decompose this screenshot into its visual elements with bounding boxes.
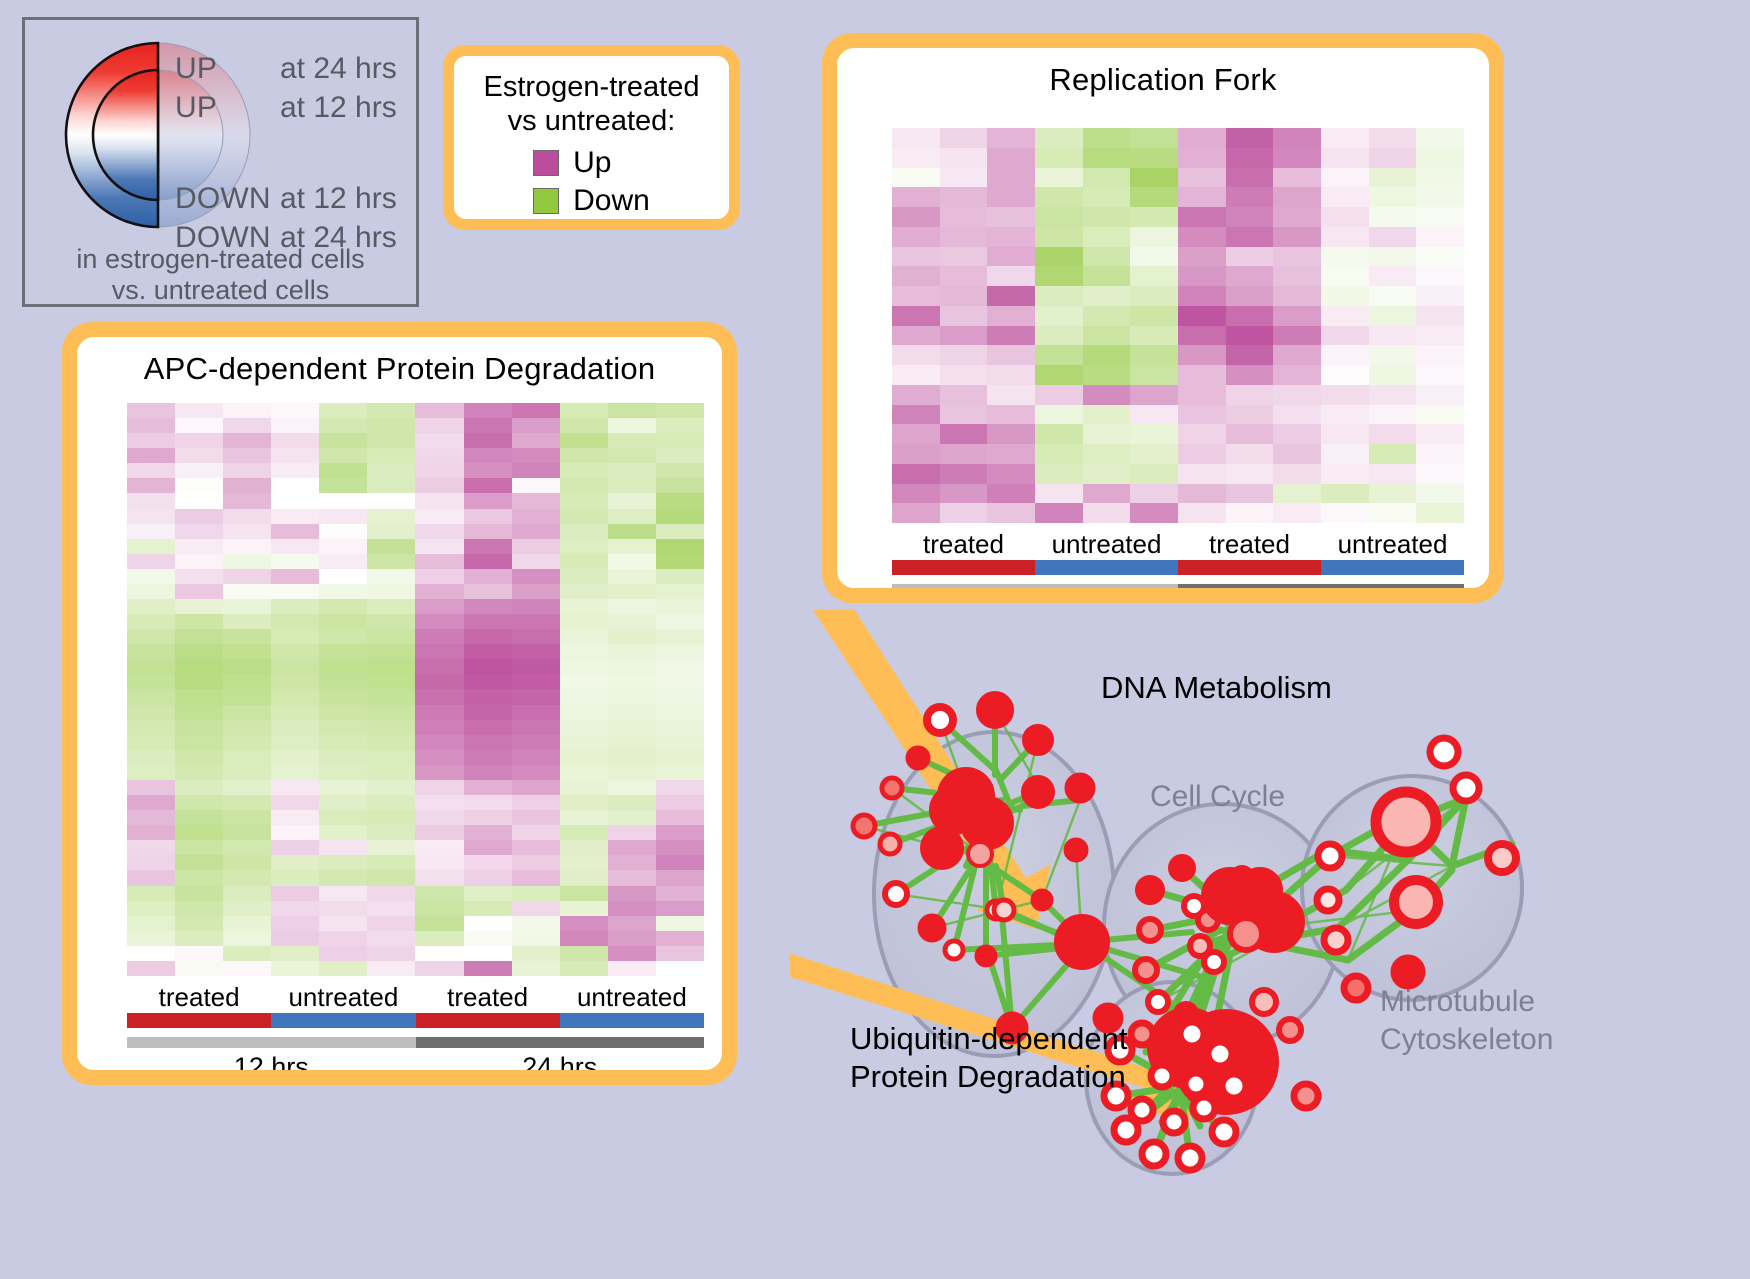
node — [880, 834, 900, 854]
node — [885, 883, 907, 905]
heatmap-cell — [608, 493, 656, 508]
heatmap-cell — [560, 946, 608, 961]
heatmap-cell — [127, 463, 175, 478]
heatmap-cell — [1226, 464, 1274, 484]
heatmap-cell — [223, 418, 271, 433]
heatmap-cell — [1226, 286, 1274, 306]
heatmap-cell — [1083, 503, 1131, 523]
heatmap-cell — [1083, 385, 1131, 405]
heatmap-cell — [319, 569, 367, 584]
heatmap-cell — [271, 599, 319, 614]
heatmap-cell — [367, 901, 415, 916]
heatmap-cell — [271, 448, 319, 463]
node — [1222, 1074, 1246, 1098]
heatmap-cell — [1416, 464, 1464, 484]
heatmap-cell — [1035, 286, 1083, 306]
heatmap-cell — [367, 493, 415, 508]
heatmap-cell — [1321, 187, 1369, 207]
heatmap-cell — [512, 855, 560, 870]
heatmap-cell — [175, 961, 223, 976]
heatmap-cell — [223, 463, 271, 478]
heatmap-cell — [127, 493, 175, 508]
heatmap-cell — [1035, 247, 1083, 267]
node — [977, 947, 995, 965]
heatmap-cell — [175, 584, 223, 599]
heatmap-cell — [271, 931, 319, 946]
heatmap-cell — [1226, 227, 1274, 247]
node — [927, 707, 953, 733]
heatmap-cell — [656, 478, 704, 493]
heatmap-cell — [464, 448, 512, 463]
heatmap-cell — [464, 659, 512, 674]
node — [1180, 1022, 1204, 1046]
heatmap-cell — [560, 493, 608, 508]
heatmap-cell — [1369, 306, 1417, 326]
heatmap-cell — [512, 765, 560, 780]
cluster-label-ubiquitin-dependent-protein-degradation: Ubiquitin-dependentProtein Degradation — [850, 1020, 1128, 1096]
heatmap-cell — [319, 795, 367, 810]
heatmap-cell — [1226, 365, 1274, 385]
heatmap-cell — [175, 493, 223, 508]
node — [1212, 1120, 1236, 1144]
heatmap-cell — [608, 720, 656, 735]
heatmap-cell — [319, 735, 367, 750]
heatmap-cell — [560, 765, 608, 780]
heatmap-cell — [512, 599, 560, 614]
heatmap-cell — [271, 840, 319, 855]
node — [1230, 918, 1262, 950]
heatmap-cell — [987, 424, 1035, 444]
heatmap-cell — [175, 433, 223, 448]
panel-apc-dependent-protein-degradation: APC-dependent Protein Degradation treate… — [62, 322, 737, 1085]
heatmap-cell — [560, 539, 608, 554]
heatmap-cell — [415, 463, 463, 478]
heatmap-cell — [1035, 464, 1083, 484]
heatmap-row — [127, 765, 704, 780]
heatmap-cell — [127, 735, 175, 750]
node — [1488, 844, 1516, 872]
heatmap-cell — [512, 509, 560, 524]
node — [1394, 958, 1422, 986]
heatmap-cell — [1178, 503, 1226, 523]
heatmap-cell — [1369, 345, 1417, 365]
heatmap-cell — [415, 765, 463, 780]
treatment-segment-treated-12 — [127, 1013, 271, 1028]
heatmap-cell — [415, 961, 463, 976]
heatmap-cell — [127, 916, 175, 931]
heatmap-cell — [1083, 484, 1131, 504]
heatmap-cell — [271, 916, 319, 931]
heatmap-cell — [512, 448, 560, 463]
heatmap-cell — [892, 424, 940, 444]
heatmap-cell — [656, 569, 704, 584]
heatmap-cell — [987, 464, 1035, 484]
heatmap-cell — [940, 385, 988, 405]
heatmap-cell — [367, 584, 415, 599]
heatmap-cell — [1226, 503, 1274, 523]
heatmap-cell — [608, 644, 656, 659]
heatmap-cell — [367, 750, 415, 765]
heatmap-cell — [560, 418, 608, 433]
heatmap-cell — [1369, 148, 1417, 168]
heatmap-row — [127, 720, 704, 735]
heatmap-row — [892, 148, 1464, 168]
treatment-segment-treated-24 — [1178, 560, 1321, 575]
heatmap-cell — [940, 484, 988, 504]
heatmap-cell — [271, 418, 319, 433]
heatmap-cell — [560, 524, 608, 539]
heatmap-cell — [512, 629, 560, 644]
heatmap-cell — [464, 493, 512, 508]
heatmap-cell — [367, 463, 415, 478]
heatmap-cell — [271, 524, 319, 539]
heatmap-cell — [175, 539, 223, 554]
heatmap-cell — [367, 735, 415, 750]
node — [994, 900, 1014, 920]
heatmap-cell — [127, 644, 175, 659]
heatmap-cell — [127, 946, 175, 961]
heatmap-cell — [892, 345, 940, 365]
heatmap-cell — [367, 448, 415, 463]
heatmap-cell — [223, 780, 271, 795]
heatmap-cell — [271, 689, 319, 704]
heatmap-cell — [560, 448, 608, 463]
heatmap-cell — [464, 855, 512, 870]
heatmap-cell — [1178, 484, 1226, 504]
heatmap-cell — [464, 705, 512, 720]
treatment-segment-untreated-12 — [1035, 560, 1178, 575]
heatmap-cell — [464, 870, 512, 885]
treatment-segment-untreated-12 — [271, 1013, 415, 1028]
heatmap-cell — [656, 689, 704, 704]
legend-row: UP at 24 hrs — [175, 52, 415, 91]
heatmap-cell — [1321, 306, 1369, 326]
time-segment-12hrs — [892, 584, 1178, 588]
heatmap-cell — [271, 554, 319, 569]
heatmap-cell — [940, 266, 988, 286]
heatmap-cell — [367, 855, 415, 870]
heatmap-cell — [560, 810, 608, 825]
heatmap-cell — [223, 946, 271, 961]
heatmap-cell — [1130, 365, 1178, 385]
heatmap-cell — [560, 433, 608, 448]
heatmap-row — [892, 503, 1464, 523]
heatmap-cell — [464, 961, 512, 976]
heatmap-cell — [512, 689, 560, 704]
heatmap-cell — [464, 901, 512, 916]
legend-row: DOWN at 12 hrs — [175, 182, 415, 221]
heatmap-cell — [271, 765, 319, 780]
heatmap-cell — [1416, 503, 1464, 523]
heatmap-cell — [223, 644, 271, 659]
heatmap-cell — [223, 750, 271, 765]
heatmap-cell — [512, 825, 560, 840]
heatmap-row — [892, 444, 1464, 464]
heatmap-cell — [656, 946, 704, 961]
heatmap-cell — [1130, 207, 1178, 227]
heatmap-cell — [367, 614, 415, 629]
heatmap-cell — [271, 886, 319, 901]
heatmap-cell — [560, 554, 608, 569]
time-segment-24hrs — [1178, 584, 1464, 588]
heatmap-cell — [1273, 306, 1321, 326]
heatmap-cell — [223, 629, 271, 644]
heatmap-cell — [656, 403, 704, 418]
heatmap-cell — [1416, 168, 1464, 188]
heatmap-cell — [1130, 385, 1178, 405]
heatmap-cell — [175, 478, 223, 493]
heatmap-cell — [987, 266, 1035, 286]
heatmap-cell — [271, 795, 319, 810]
heatmap-cell — [319, 916, 367, 931]
heatmap-cell — [223, 735, 271, 750]
heatmap-cell — [1226, 444, 1274, 464]
heatmap-cell — [464, 689, 512, 704]
treatment-segment-untreated-24 — [560, 1013, 704, 1028]
heatmap-cell — [608, 599, 656, 614]
heatmap-cell — [127, 659, 175, 674]
heatmap-cell — [1273, 424, 1321, 444]
heatmap-cell — [987, 128, 1035, 148]
heatmap-cell — [512, 931, 560, 946]
heatmap-cell — [367, 418, 415, 433]
heatmap-cell — [560, 735, 608, 750]
heatmap-cell — [223, 795, 271, 810]
heatmap-cell — [319, 463, 367, 478]
heatmap-cell — [987, 168, 1035, 188]
heatmap-cell — [175, 674, 223, 689]
heatmap-cell — [608, 509, 656, 524]
heatmap-cell — [367, 810, 415, 825]
heatmap-cell — [1130, 266, 1178, 286]
heatmap-cell — [319, 659, 367, 674]
heatmap-cell — [512, 433, 560, 448]
heatmap-cell — [127, 689, 175, 704]
time-segment-24hrs — [416, 1037, 705, 1048]
heatmap-cell — [892, 306, 940, 326]
heatmap-cell — [1083, 464, 1131, 484]
heatmap-cell — [560, 855, 608, 870]
cluster-label-dna-metabolism: DNA Metabolism — [1101, 670, 1332, 706]
heatmap-cell — [367, 946, 415, 961]
heatmap-cell — [656, 599, 704, 614]
heatmap-cell — [1178, 266, 1226, 286]
heatmap-cell — [1273, 405, 1321, 425]
heatmap-cell — [892, 187, 940, 207]
node — [1317, 889, 1339, 911]
heatmap-cell — [127, 840, 175, 855]
legend-ring-labels: UP at 24 hrs UP at 12 hrs DOWN at 12 hrs… — [175, 52, 415, 260]
heatmap-cell — [1273, 168, 1321, 188]
node — [1376, 792, 1436, 852]
heatmap-cell — [1273, 187, 1321, 207]
heatmap-cell — [1416, 326, 1464, 346]
heatmap-cell — [892, 464, 940, 484]
legend-direction: UP — [175, 91, 280, 125]
heatmap-cell — [1083, 326, 1131, 346]
heatmap-cell — [319, 705, 367, 720]
heatmap-row — [127, 674, 704, 689]
up-swatch-icon — [533, 150, 559, 176]
heatmap-cell — [271, 493, 319, 508]
heatmap-cell — [175, 735, 223, 750]
heatmap-cell — [1369, 266, 1417, 286]
heatmap-cell — [415, 433, 463, 448]
heatmap-cell — [464, 825, 512, 840]
node — [921, 827, 963, 869]
heatmap-cell — [1178, 424, 1226, 444]
heatmap-cell — [175, 870, 223, 885]
heatmap-cell — [319, 418, 367, 433]
heatmap-cell — [127, 629, 175, 644]
heatmap-cell — [608, 674, 656, 689]
heatmap-cell — [1369, 168, 1417, 188]
heatmap-cell — [319, 931, 367, 946]
heatmap-cell — [1369, 207, 1417, 227]
node — [1294, 1084, 1318, 1108]
heatmap-cell — [367, 886, 415, 901]
heatmap-cell — [1130, 444, 1178, 464]
heatmap-cell — [319, 901, 367, 916]
heatmap-cell — [1321, 464, 1369, 484]
heatmap-cell — [512, 780, 560, 795]
heatmap-cell — [1321, 326, 1369, 346]
heatmap-cell — [415, 418, 463, 433]
heatmap-cell — [223, 931, 271, 946]
heatmap-cell — [1226, 405, 1274, 425]
heatmap-cell — [464, 584, 512, 599]
heatmap-cell — [175, 614, 223, 629]
heatmap-cell — [1369, 405, 1417, 425]
heatmap-cell — [560, 870, 608, 885]
heatmap-cell — [319, 614, 367, 629]
heatmap-cell — [223, 524, 271, 539]
heatmap-replication-fork — [892, 128, 1464, 523]
heatmap-row — [127, 750, 704, 765]
heatmap-cell — [175, 886, 223, 901]
heatmap-row — [892, 405, 1464, 425]
heatmap-cell — [415, 780, 463, 795]
heatmap-cell — [367, 795, 415, 810]
heatmap-cell — [1035, 227, 1083, 247]
heatmap-cell — [1226, 247, 1274, 267]
heatmap-row — [127, 870, 704, 885]
heatmap-cell — [367, 478, 415, 493]
heatmap-cell — [223, 614, 271, 629]
node — [908, 748, 928, 768]
heatmap-cell — [127, 448, 175, 463]
heatmap-cell — [367, 825, 415, 840]
heatmap-cell — [367, 674, 415, 689]
heatmap-cell — [1083, 148, 1131, 168]
heatmap-cell — [464, 720, 512, 735]
heatmap-cell — [1369, 187, 1417, 207]
treatment-segment-treated-24 — [416, 1013, 560, 1028]
heatmap-cell — [940, 187, 988, 207]
heatmap-row — [892, 247, 1464, 267]
heatmap-cell — [940, 306, 988, 326]
heatmap-cell — [656, 825, 704, 840]
heatmap-cell — [319, 674, 367, 689]
heatmap-cell — [656, 554, 704, 569]
heatmap-cell — [1178, 168, 1226, 188]
heatmap-cell — [560, 795, 608, 810]
heatmap-row — [892, 484, 1464, 504]
heatmap-row — [127, 539, 704, 554]
heatmap-cell — [656, 795, 704, 810]
heatmap-cell — [223, 689, 271, 704]
heatmap-cell — [940, 464, 988, 484]
heatmap-cell — [319, 961, 367, 976]
up-label: Up — [573, 146, 611, 180]
heatmap-cell — [608, 840, 656, 855]
heatmap-cell — [1321, 444, 1369, 464]
heatmap-cell — [608, 870, 656, 885]
heatmap-cell — [1226, 187, 1274, 207]
heatmap-cell — [223, 825, 271, 840]
heatmap-cell — [512, 584, 560, 599]
heatmap-cell — [512, 870, 560, 885]
heatmap-cell — [940, 207, 988, 227]
heatmap-cell — [415, 524, 463, 539]
heatmap-cell — [656, 584, 704, 599]
heatmap-row — [127, 403, 704, 418]
heatmap-cell — [127, 539, 175, 554]
heatmap-cell — [1273, 148, 1321, 168]
heatmap-cell — [127, 584, 175, 599]
heatmap-cell — [223, 705, 271, 720]
heatmap-cell — [656, 629, 704, 644]
heatmap-cell — [271, 735, 319, 750]
heatmap-cell — [512, 720, 560, 735]
time-segment-12hrs — [127, 1037, 416, 1048]
heatmap-cell — [319, 825, 367, 840]
heatmap-cell — [608, 931, 656, 946]
heatmap-cell — [319, 584, 367, 599]
heatmap-cell — [223, 478, 271, 493]
heatmap-cell — [127, 705, 175, 720]
heatmap-cell — [892, 227, 940, 247]
heatmap-row — [127, 418, 704, 433]
heatmap-cell — [127, 750, 175, 765]
heatmap-cell — [271, 584, 319, 599]
time-label-12hrs: 12 hrs — [127, 1052, 416, 1070]
heatmap-cell — [1321, 345, 1369, 365]
heatmap-cell — [560, 599, 608, 614]
heatmap-cell — [464, 629, 512, 644]
heatmap-row — [127, 433, 704, 448]
heatmap-row — [127, 961, 704, 976]
heatmap-cell — [512, 644, 560, 659]
heatmap-row — [127, 916, 704, 931]
heatmap-cell — [656, 644, 704, 659]
heatmap-cell — [415, 478, 463, 493]
heatmap-cell — [1083, 444, 1131, 464]
treatment-bar — [892, 560, 1464, 575]
group-label: untreated — [1035, 529, 1178, 560]
node — [1135, 959, 1157, 981]
heatmap-row — [127, 493, 704, 508]
heatmap-cell — [1321, 286, 1369, 306]
heatmap-cell — [271, 780, 319, 795]
heatmap-cell — [1226, 484, 1274, 504]
heatmap-cell — [464, 810, 512, 825]
heatmap-cell — [512, 901, 560, 916]
node — [1142, 1142, 1166, 1166]
heatmap-cell — [987, 385, 1035, 405]
heatmap-cell — [656, 674, 704, 689]
heatmap-row — [127, 689, 704, 704]
